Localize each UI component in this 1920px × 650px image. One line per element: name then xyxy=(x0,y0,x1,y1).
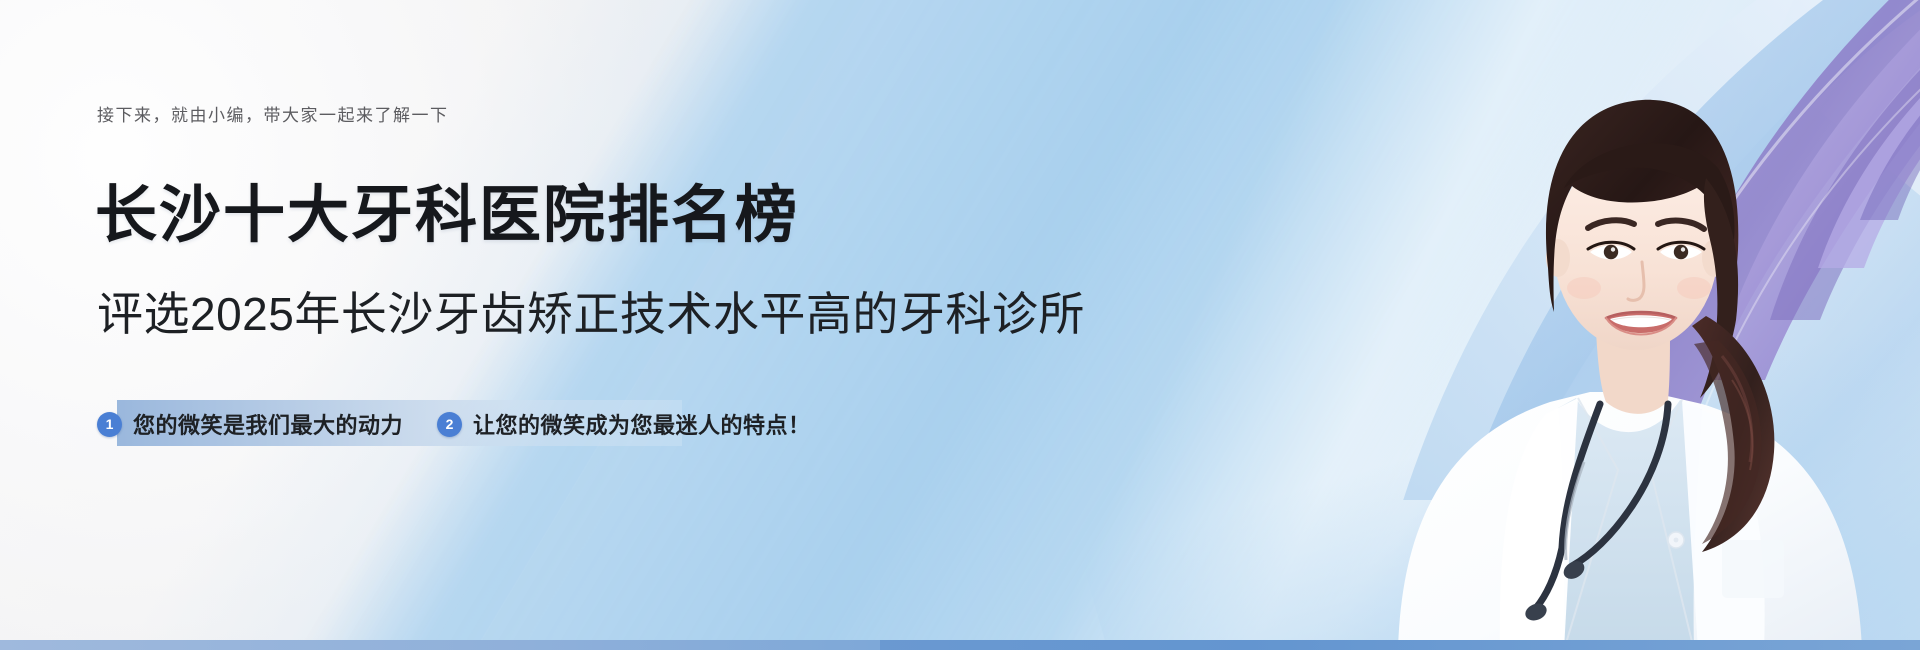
bullet-label: 让您的微笑成为您最迷人的特点！ xyxy=(473,408,811,440)
dentist-figure-image xyxy=(1350,0,1910,650)
intro-line: 接下来，就由小编，带大家一起来了解一下 xyxy=(97,101,449,126)
bottom-accent-bar-left xyxy=(0,640,880,650)
bullet-number-badge: 2 xyxy=(437,412,462,437)
bullet-list: 1 您的微笑是我们最大的动力 2 让您的微笑成为您最迷人的特点！ xyxy=(97,408,811,440)
banner-content: 接下来，就由小编，带大家一起来了解一下 长沙十大牙科医院排名榜 评选2025年长… xyxy=(95,0,1145,650)
page-title: 长沙十大牙科医院排名榜 xyxy=(95,181,799,251)
list-item: 2 让您的微笑成为您最迷人的特点！ xyxy=(437,408,811,440)
bullet-number-badge: 1 xyxy=(97,412,122,437)
subtitle-text: 评选2025年长沙牙齿矫正技术水平高的牙科诊所 xyxy=(97,283,1085,345)
list-item: 1 您的微笑是我们最大的动力 xyxy=(97,408,403,440)
dental-ranking-banner: 接下来，就由小编，带大家一起来了解一下 长沙十大牙科医院排名榜 评选2025年长… xyxy=(0,0,1920,650)
bullet-label: 您的微笑是我们最大的动力 xyxy=(133,408,403,440)
